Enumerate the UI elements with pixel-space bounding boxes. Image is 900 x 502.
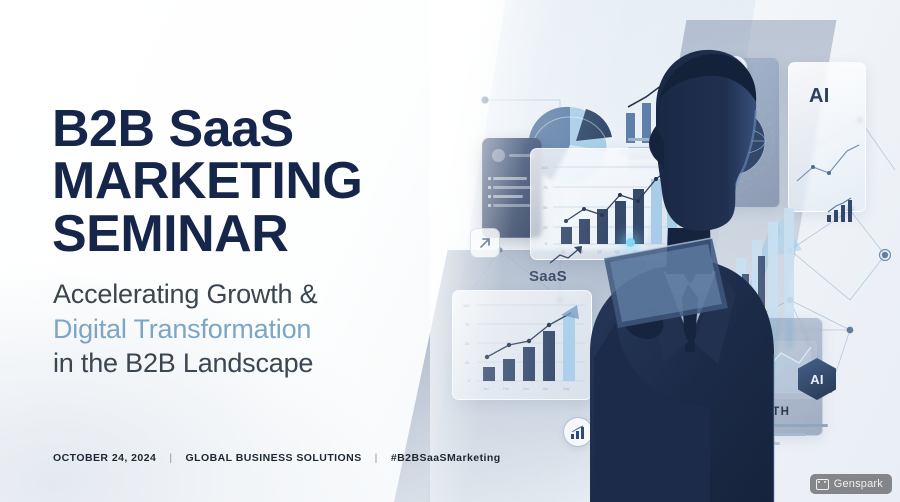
svg-text:Jan: Jan [483,387,489,391]
sidebar-bullets [488,177,491,229]
genspark-logo-icon [816,479,829,490]
svg-text:75: 75 [543,185,548,190]
footer-separator: | [375,452,378,464]
avatar [492,149,505,162]
sidebar-menu-rows [493,177,533,213]
svg-text:Apr: Apr [543,387,549,391]
subtitle: Accelerating Growth & Digital Transforma… [53,277,453,381]
page-title: B2B SaaS MARKETING SEMINAR [52,104,472,259]
organization-name: GLOBAL BUSINESS SOLUTIONS [186,452,362,464]
title-line-2: MARKETING [52,156,472,206]
businessman-silhouette [560,22,790,502]
ai-label: AI [809,85,830,108]
ai-card: AI [788,62,866,212]
text-content-block: B2B SaaS MARKETING SEMINAR Accelerating … [52,0,482,502]
subtitle-line-1: Accelerating Growth & [53,277,453,312]
genspark-watermark[interactable]: Genspark [810,474,892,494]
illustration-artwork: 10075 50250 [430,0,900,502]
event-hashtag: #B2BSaaSMarketing [391,452,501,464]
svg-text:25: 25 [543,225,548,230]
watermark-label: Genspark [834,478,883,490]
event-date: OCTOBER 24, 2024 [53,452,156,464]
subtitle-line-3: in the B2B Landscape [53,346,453,381]
bar-chart-glyph [825,197,855,223]
title-line-1: B2B SaaS [52,104,472,154]
svg-text:Feb: Feb [503,387,509,391]
subtitle-line-2: Digital Transformation [53,312,453,347]
svg-text:Mar: Mar [523,387,530,391]
bar-chart-icon [825,197,855,228]
svg-text:100: 100 [541,165,548,170]
svg-text:50: 50 [543,205,548,210]
seminar-poster: 10075 50250 [0,0,900,502]
ai-card-lines [789,131,867,201]
footer-meta: OCTOBER 24, 2024 | GLOBAL BUSINESS SOLUT… [53,452,501,464]
ai-hex-label: AI [810,372,824,387]
title-line-3: SEMINAR [52,209,472,259]
footer-separator: | [169,452,172,464]
